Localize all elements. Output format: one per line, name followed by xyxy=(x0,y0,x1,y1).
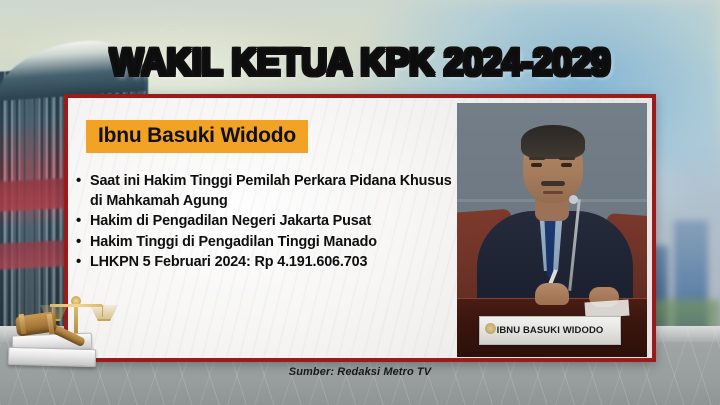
nameplate-text: IBNU BASUKI WIDODO xyxy=(497,325,604,336)
profile-card: Ibnu Basuki Widodo Saat ini Hakim Tinggi… xyxy=(64,94,656,362)
scales-pan-right-icon xyxy=(90,305,118,321)
person-eye-left xyxy=(531,163,542,167)
law-book-bottom xyxy=(8,347,96,367)
person-mouth xyxy=(543,191,563,194)
person-eyebrow-right xyxy=(559,157,575,160)
credentials-list: Saat ini Hakim Tinggi Pemilah Perkara Pi… xyxy=(76,172,466,274)
list-item: LHKPN 5 Februari 2024: Rp 4.191.606.703 xyxy=(76,253,466,273)
list-item: Hakim di Pengadilan Negeri Jakarta Pusat xyxy=(76,212,466,232)
person-hand-left xyxy=(535,283,569,305)
person-eyebrow-left xyxy=(529,157,545,160)
desk-nameplate: IBNU BASUKI WIDODO xyxy=(479,316,621,345)
name-banner: Ibnu Basuki Widodo xyxy=(86,120,308,153)
person-hair xyxy=(521,125,585,159)
page-title: WAKIL KETUA KPK 2024-2029 xyxy=(22,42,699,85)
source-attribution: Sumber: Redaksi Metro TV xyxy=(0,366,720,378)
nameplate-seal-icon xyxy=(485,323,496,334)
list-item: Hakim Tinggi di Pengadilan Tinggi Manado xyxy=(76,233,466,253)
candidate-photo: IBNU BASUKI WIDODO xyxy=(457,103,647,357)
person-eye-right xyxy=(561,163,572,167)
candidate-name: Ibnu Basuki Widodo xyxy=(86,120,308,153)
broadcast-graphic: WAKIL KETUA KPK 2024-2029 Ibnu Basuki Wi… xyxy=(0,0,720,405)
microphone-head xyxy=(569,195,578,204)
list-item: Saat ini Hakim Tinggi Pemilah Perkara Pi… xyxy=(76,172,466,211)
person-mustache xyxy=(541,181,565,186)
